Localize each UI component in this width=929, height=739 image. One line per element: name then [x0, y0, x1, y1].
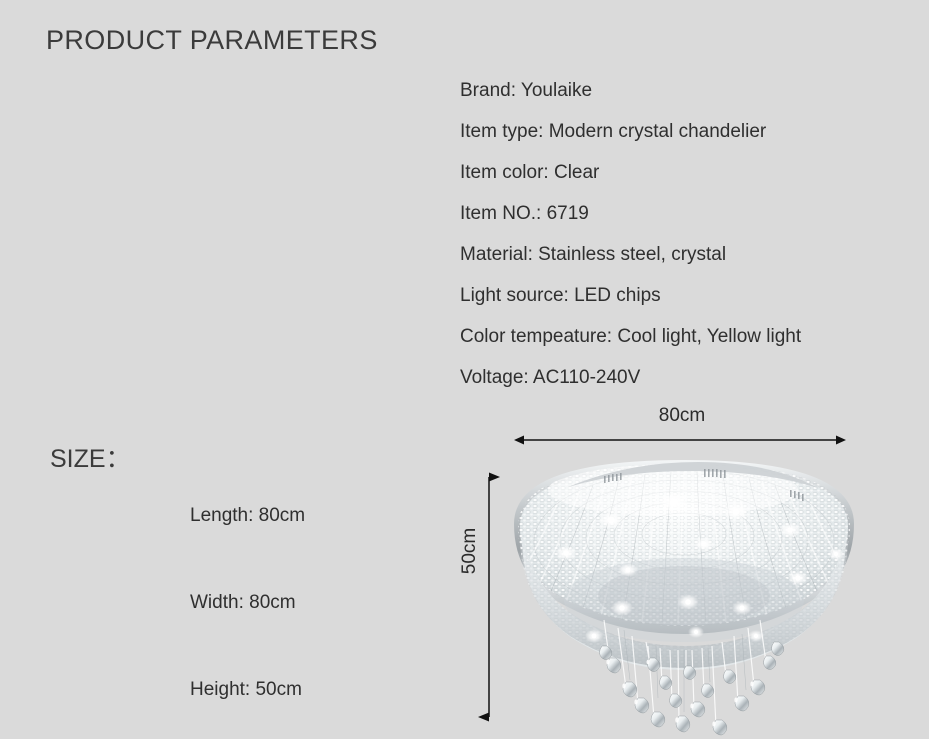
size-row-height: Height: 50cm — [190, 646, 450, 733]
spec-row-material: Material: Stainless steel, crystal — [460, 234, 920, 275]
size-list: Length: 80cm Width: 80cm Height: 50cm — [190, 472, 450, 733]
size-row-width: Width: 80cm — [190, 559, 450, 646]
page-title: PRODUCT PARAMETERS — [46, 25, 378, 56]
spec-row-color-temperature: Color tempeature: Cool light, Yellow lig… — [460, 316, 920, 357]
spec-row-voltage: Voltage: AC110-240V — [460, 357, 920, 398]
spec-row-light-source: Light source: LED chips — [460, 275, 920, 316]
size-section-title: SIZE： — [50, 439, 131, 475]
spec-row-item-type: Item type: Modern crystal chandelier — [460, 111, 920, 152]
size-row-length: Length: 80cm — [190, 472, 450, 559]
height-dimension-label: 50cm — [459, 515, 481, 587]
specification-list: Brand: Youlaike Item type: Modern crysta… — [460, 70, 920, 398]
product-parameters-page: PRODUCT PARAMETERS SIZE： Brand: Youlaike… — [0, 0, 929, 739]
spec-row-item-color: Item color: Clear — [460, 152, 920, 193]
spec-row-brand: Brand: Youlaike — [460, 70, 920, 111]
width-dimension-label: 80cm — [630, 405, 734, 427]
spec-row-item-no: Item NO.: 6719 — [460, 193, 920, 234]
product-image-chandelier — [498, 450, 870, 739]
